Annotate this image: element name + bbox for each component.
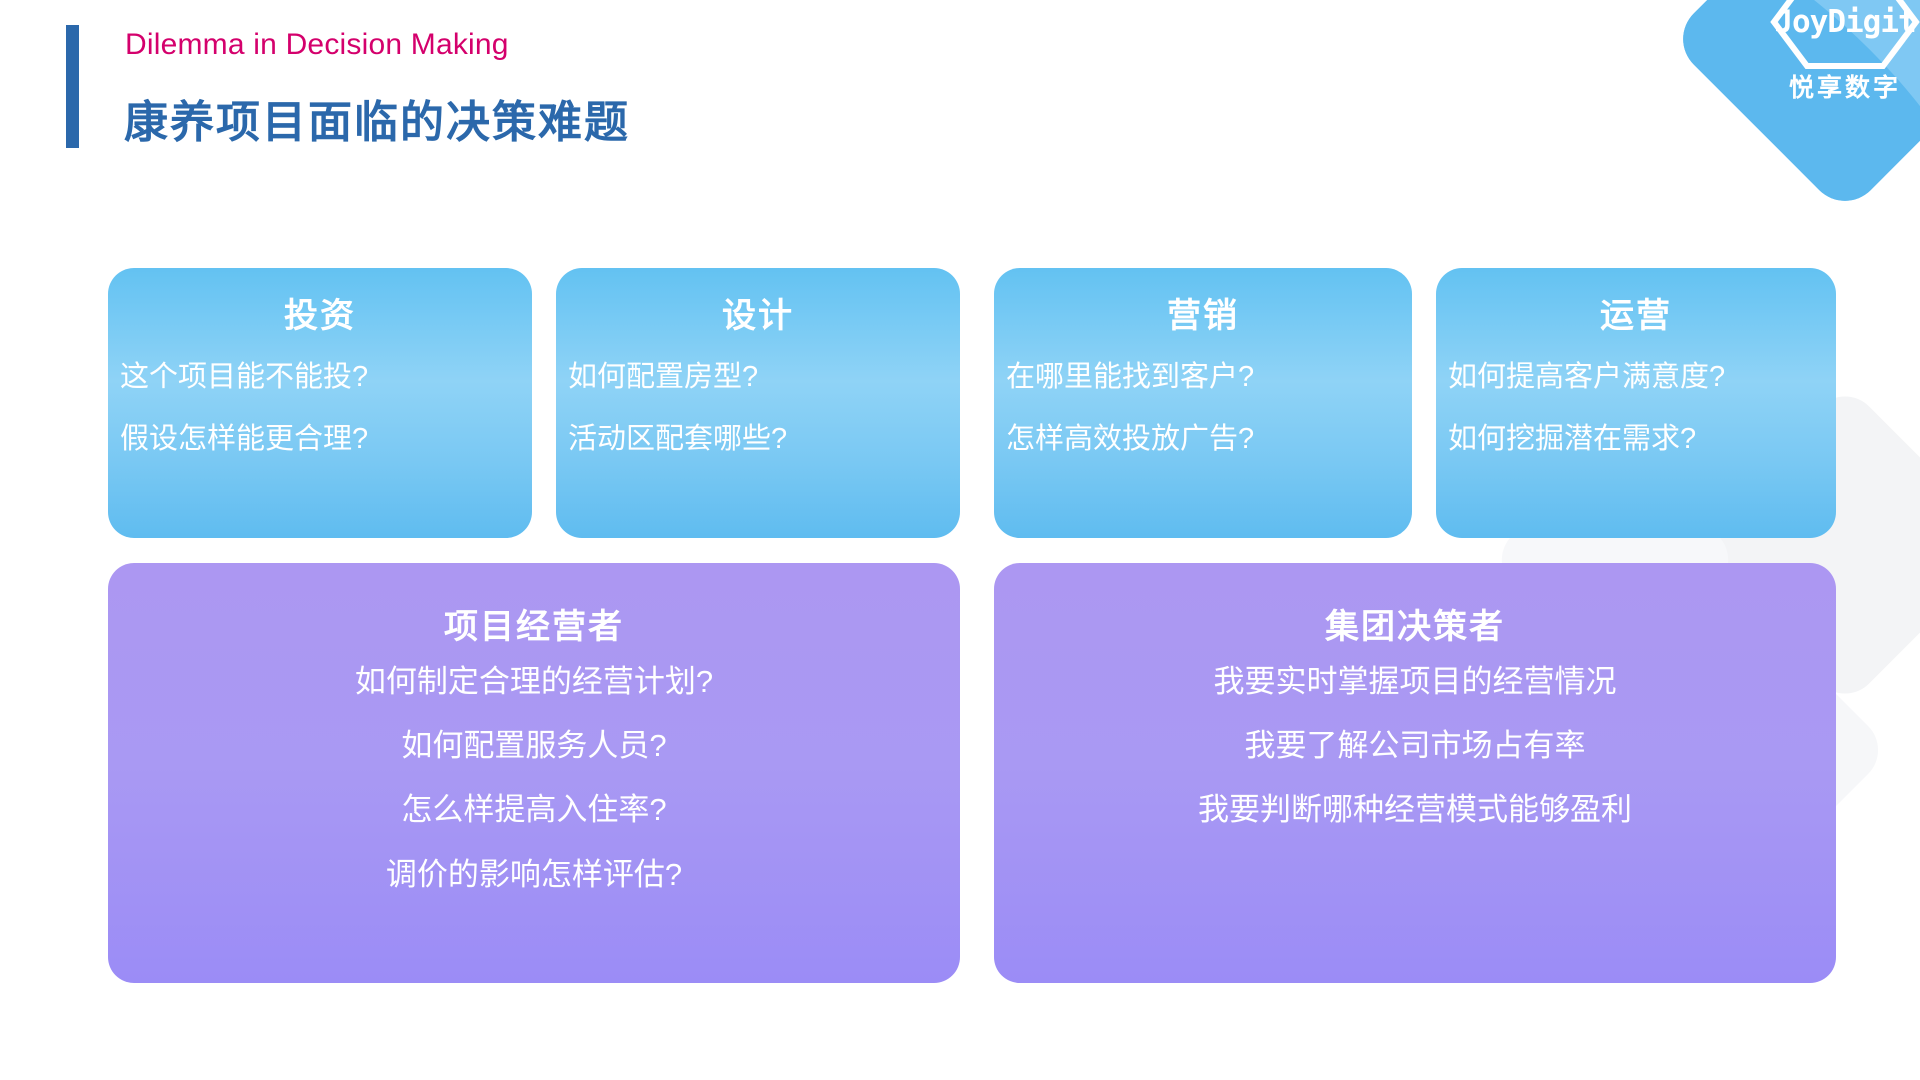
card-marketing[interactable]: 营销 在哪里能找到客户? 怎样高效投放广告?: [994, 268, 1412, 538]
card-line: 这个项目能不能投?: [120, 359, 368, 395]
slide-subtitle-en: Dilemma in Decision Making: [125, 28, 509, 62]
card-line: 如何制定合理的经营计划?: [355, 662, 713, 702]
card-line: 活动区配套哪些?: [568, 421, 787, 457]
card-title: 营销: [1167, 296, 1239, 337]
card-title: 集团决策者: [1325, 607, 1505, 648]
card-line: 如何挖掘潜在需求?: [1448, 421, 1696, 457]
card-line: 我要实时掌握项目的经营情况: [1214, 662, 1617, 702]
card-title: 设计: [722, 296, 794, 337]
card-design[interactable]: 设计 如何配置房型? 活动区配套哪些?: [556, 268, 960, 538]
card-line: 怎么样提高入住率?: [401, 790, 666, 830]
card-line: 我要了解公司市场占有率: [1245, 726, 1586, 766]
card-title: 投资: [284, 296, 356, 337]
card-line: 我要判断哪种经营模式能够盈利: [1198, 790, 1632, 830]
card-project-operator[interactable]: 项目经营者 如何制定合理的经营计划? 如何配置服务人员? 怎么样提高入住率? 调…: [108, 563, 960, 983]
card-operations[interactable]: 运营 如何提高客户满意度? 如何挖掘潜在需求?: [1436, 268, 1836, 538]
card-title: 项目经营者: [444, 607, 624, 648]
title-accent-bar: [66, 25, 79, 148]
cards-board: 投资 这个项目能不能投? 假设怎样能更合理? 设计 如何配置房型? 活动区配套哪…: [0, 0, 1920, 1080]
card-line: 在哪里能找到客户?: [1006, 359, 1254, 395]
logo-wordmark: JoyDigit: [1774, 4, 1915, 40]
card-line: 如何提高客户满意度?: [1448, 359, 1725, 395]
logo-subtitle: 悦享数字: [1789, 68, 1901, 104]
page-title: 康养项目面临的决策难题: [124, 86, 630, 150]
card-line: 怎样高效投放广告?: [1006, 421, 1254, 457]
card-group-decision-maker[interactable]: 集团决策者 我要实时掌握项目的经营情况 我要了解公司市场占有率 我要判断哪种经营…: [994, 563, 1836, 983]
card-title: 运营: [1600, 296, 1672, 337]
card-line: 假设怎样能更合理?: [120, 421, 368, 457]
card-line: 调价的影响怎样评估?: [386, 855, 682, 895]
card-line: 如何配置房型?: [568, 359, 758, 395]
card-investment[interactable]: 投资 这个项目能不能投? 假设怎样能更合理?: [108, 268, 532, 538]
card-line: 如何配置服务人员?: [401, 726, 666, 766]
